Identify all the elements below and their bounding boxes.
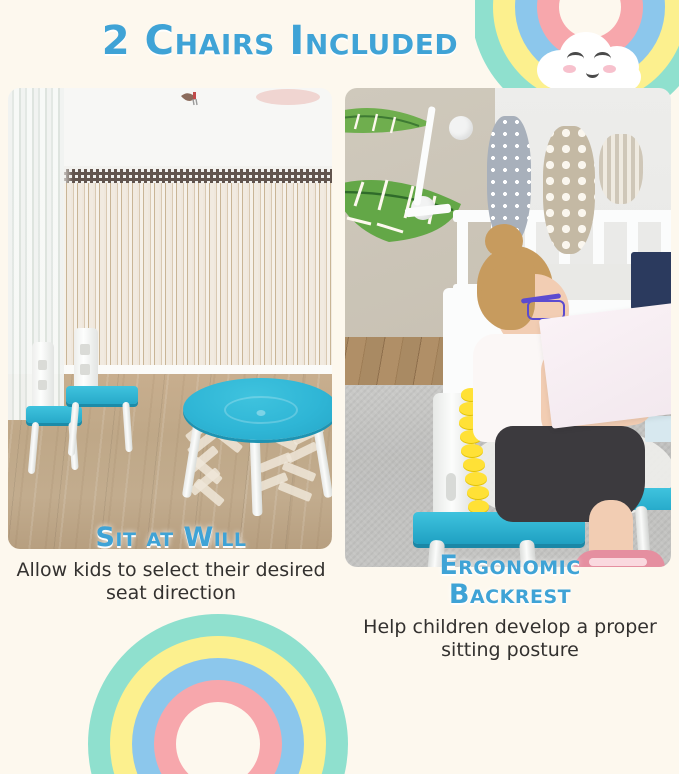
photo-child-on-chair [345,88,671,567]
cloud-cheek-left [563,65,576,73]
cloud-eye-left [567,52,584,66]
feature-panel-right [345,88,671,567]
paper-sheet [539,301,671,428]
cloud-face [561,48,623,78]
pillow-beige-dotted [543,126,595,254]
stacked-books [645,416,671,442]
rainbow-bottom-left [88,614,348,774]
wall-decal-blob [256,89,320,105]
wall-checker-border [60,169,332,183]
caption-right-title-line2: Backrest [345,581,675,610]
cloud-eye-right [594,52,611,66]
caption-right-subtitle: Help children develop a proper sitting p… [345,616,675,662]
caption-left-title: Sit at Will [6,524,336,553]
caption-left-subtitle: Allow kids to select their desired seat … [6,559,336,605]
photo-table-and-chairs [8,88,332,549]
pillow-check [599,134,643,204]
cloud-smile [586,67,599,78]
caption-right-title-line1: Ergonomic [345,552,675,581]
bird-decal-icon [180,90,202,106]
decor-ball-top [449,116,473,140]
caption-left: Sit at Will Allow kids to select their d… [6,524,336,605]
wall-stripes [60,183,332,374]
caption-right: Ergonomic Backrest Help children develop… [345,552,675,663]
cloud-cheek-right [603,65,616,73]
feature-panel-left [8,88,332,549]
poster-canvas: 2 Chairs Included [0,0,679,688]
cloud-icon [537,28,649,90]
